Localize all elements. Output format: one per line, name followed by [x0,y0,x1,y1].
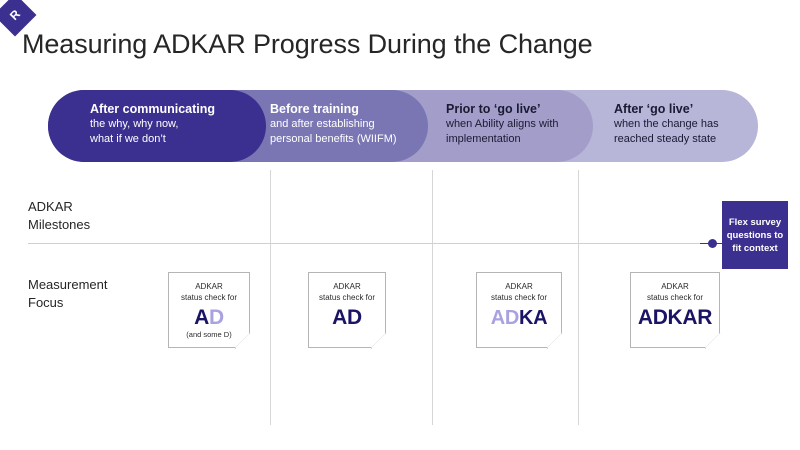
sticky-note-2-head2: status check for [309,292,385,303]
phase-sub-4-line2: reached steady state [614,132,779,147]
sticky-note-3-head1: ADKAR [477,281,561,292]
page-title: Measuring ADKAR Progress During the Chan… [22,27,593,61]
sticky-note-2-code: AD [309,306,385,330]
sticky-note-4-code: ADKAR [631,306,719,330]
sticky-note-4-head1: ADKAR [631,281,719,292]
sticky-note-4-content: ADKAR status check for ADKAR [631,281,719,330]
phase-sub-2-line2: personal benefits (WIIFM) [270,132,445,147]
sticky-note-1: ADKAR status check for AD (and some D) [168,272,250,348]
sticky-note-3-head2: status check for [477,292,561,303]
slide-canvas: Measuring ADKAR Progress During the Chan… [0,0,800,450]
phase-sub-3-line2: implementation [446,132,621,147]
flex-survey-line1: Flex survey [727,216,783,229]
flex-survey-line3: fit context [727,242,783,255]
sticky-note-3-code-light: AD [491,307,519,329]
page-fold-icon [547,333,562,348]
phase-title-3: Prior to ‘go live’ [446,101,621,117]
phase-title-1: After communicating [90,101,250,117]
phase-label-4: After ‘go live’ when the change has reac… [614,101,779,147]
row-label-focus-line1: Measurement [28,276,107,294]
row-divider [28,243,712,244]
row-label-milestones: ADKAR Milestones [28,198,90,234]
sticky-note-1-head1: ADKAR [169,281,249,292]
column-divider-2 [432,170,433,425]
sticky-note-3-code-dark: KA [519,307,547,329]
phase-title-4: After ‘go live’ [614,101,779,117]
phase-label-2: Before training and after establishing p… [270,101,445,147]
page-fold-icon [705,333,720,348]
flex-survey-line2: questions to [727,229,783,242]
phase-sub-2-line1: and after establishing [270,117,445,132]
page-fold-icon [235,333,250,348]
phase-label-3: Prior to ‘go live’ when Ability aligns w… [446,101,621,147]
sticky-note-4-head2: status check for [631,292,719,303]
sticky-note-2-content: ADKAR status check for AD [309,281,385,330]
row-label-measurement-focus: Measurement Focus [28,276,107,312]
page-fold-icon [371,333,386,348]
phase-title-2: Before training [270,101,445,117]
sticky-note-3-content: ADKAR status check for ADKA [477,281,561,330]
sticky-note-1-code-dark: A [194,306,209,329]
sticky-note-2-code-dark: AD [332,306,362,329]
phase-sub-1-line1: the why, why now, [90,117,250,132]
sticky-note-3-code: ADKA [477,306,561,330]
column-divider-3 [578,170,579,425]
flex-survey-connector-dot-icon [708,239,717,248]
sticky-note-2: ADKAR status check for AD [308,272,386,348]
sticky-note-4: ADKAR status check for ADKAR [630,272,720,348]
sticky-note-2-head1: ADKAR [309,281,385,292]
sticky-note-3: ADKAR status check for ADKA [476,272,562,348]
sticky-note-4-code-dark: ADKAR [638,306,712,329]
phase-sub-3-line1: when Ability aligns with [446,117,621,132]
phase-sub-1-line2: what if we don’t [90,132,250,147]
sticky-note-1-content: ADKAR status check for AD (and some D) [169,281,249,340]
sticky-note-1-head2: status check for [169,292,249,303]
sticky-note-1-code: AD [169,306,249,330]
row-label-milestones-line1: ADKAR [28,198,90,216]
flex-survey-callout: Flex survey questions to fit context [722,201,788,269]
phase-label-1: After communicating the why, why now, wh… [90,101,250,147]
column-divider-1 [270,170,271,425]
row-label-focus-line2: Focus [28,294,107,312]
phase-banner: After communicating the why, why now, wh… [48,90,758,162]
row-label-milestones-line2: Milestones [28,216,90,234]
phase-sub-4-line1: when the change has [614,117,779,132]
sticky-note-1-code-light: D [209,306,224,329]
